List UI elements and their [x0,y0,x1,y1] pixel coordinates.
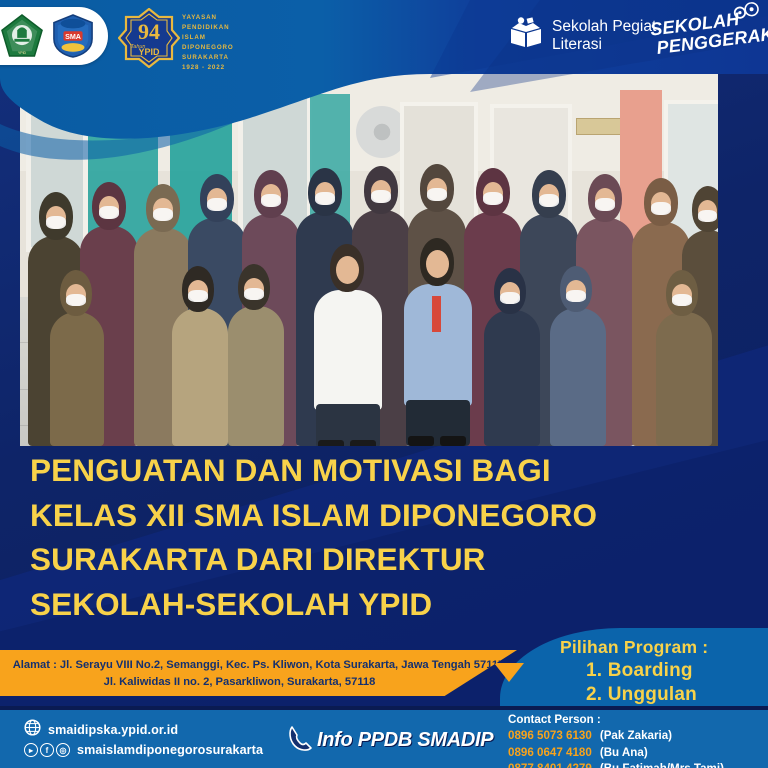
facebook-icon[interactable]: f [40,743,54,757]
foundation-line: DIPONEGORO [182,43,260,53]
globe-icon [24,719,41,741]
poster-canvas: YPID SMA 94 Tahun YPID YAYASAN [0,0,768,768]
gears-icon [730,1,763,30]
contact-number: 0877 8401 4279 [508,761,592,768]
foundation-line: SURAKARTA [182,53,260,63]
address-bar: Alamat : Jl. Serayu VIII No.2, Semanggi,… [0,650,517,696]
website-row[interactable]: smaidipska.ypid.or.id [24,719,263,741]
poster-title: PENGUATAN DAN MOTIVASI BAGI KELAS XII SM… [30,448,730,627]
contact-heading: Contact Person : [508,712,724,728]
contact-row: 0877 8401 4279 (Bu Fatimah/Mrs Tami) [508,761,724,768]
website-url[interactable]: smaidipska.ypid.or.id [48,723,178,737]
contact-block: Contact Person : 0896 5073 6130 (Pak Zak… [508,712,724,768]
svg-text:SMA: SMA [65,33,81,41]
photo-person [226,264,286,446]
photo-person [482,268,542,446]
info-ppdb-block[interactable]: Info PPDB SMADIP [288,724,493,757]
foundation-line: YAYASAN [182,13,260,23]
svg-text:YPID: YPID [138,47,160,57]
literasi-line-2: Literasi [552,36,656,53]
program-item: 2. Unggulan [586,684,768,706]
sekolah-pegiat-literasi-logo: Sekolah Pegiat Literasi [509,17,656,54]
foundation-line: 1928 - 2022 [182,63,260,73]
contact-name: (Bu Fatimah/Mrs Tami) [600,761,724,768]
contact-row: 0896 5073 6130 (Pak Zakaria) [508,728,724,744]
literasi-label: Sekolah Pegiat Literasi [552,18,656,53]
instagram-icon[interactable]: ◎ [56,743,70,757]
contact-name: (Bu Ana) [600,745,648,761]
foundation-line: PENDIDIKAN [182,23,260,33]
group-photo [20,74,718,446]
phone-icon [288,724,314,757]
foundation-line: ISLAM [182,33,260,43]
contact-number: 0896 5073 6130 [508,728,592,744]
address-line-1: Alamat : Jl. Serayu VIII No.2, Semanggi,… [0,657,517,674]
ypid-green-emblem-icon: YPID [1,14,43,58]
foundation-name-text: YAYASAN PENDIDIKAN ISLAM DIPONEGORO SURA… [182,13,260,73]
title-line: KELAS XII SMA ISLAM DIPONEGORO [30,493,730,538]
photo-person [48,270,106,446]
photo-room-background [20,74,718,446]
sekolah-penggerak-logo: SEKOLAH PENGGERAK [649,8,763,73]
title-line: SEKOLAH-SEKOLAH YPID [30,582,730,627]
school-logo-pill: YPID SMA [0,7,108,65]
program-item: 1. Boarding [586,660,768,682]
contact-row: 0896 0647 4180 (Bu Ana) [508,745,724,761]
svg-text:YPID: YPID [18,51,27,55]
title-line: SURAKARTA DARI DIREKTUR [30,537,730,582]
photo-person [170,266,230,446]
contact-name: (Pak Zakaria) [600,728,672,744]
title-line: PENGUATAN DAN MOTIVASI BAGI [30,448,730,493]
contact-number: 0896 0647 4180 [508,745,592,761]
social-handle[interactable]: smaislamdiponegorosurakarta [77,743,263,757]
photo-person-speaker [312,244,384,446]
orange-arrow-accent [494,663,524,682]
open-book-icon [509,17,543,54]
program-heading: Pilihan Program : [560,637,768,658]
ppdb-label[interactable]: Info PPDB SMADIP [317,729,493,752]
anniversary-badge-icon: 94 Tahun YPID [118,8,180,68]
footer-web-block: smaidipska.ypid.or.id ▸ f ◎ smaislamdipo… [24,719,263,759]
literasi-line-1: Sekolah Pegiat [552,18,656,35]
photo-person-director [402,238,474,446]
youtube-icon[interactable]: ▸ [24,743,38,757]
address-line-2: Jl. Kaliwidas II no. 2, Pasarkliwon, Sur… [0,674,517,691]
photo-person [654,270,714,446]
photo-person [548,266,608,446]
program-options: Pilihan Program : 1. Boarding 2. Unggula… [560,637,768,706]
badge-number: 94 [138,19,160,44]
social-icons: ▸ f ◎ [24,743,70,757]
social-row[interactable]: ▸ f ◎ smaislamdiponegorosurakarta [24,743,263,757]
sma-islam-diponegoro-emblem-icon: SMA [52,14,94,58]
